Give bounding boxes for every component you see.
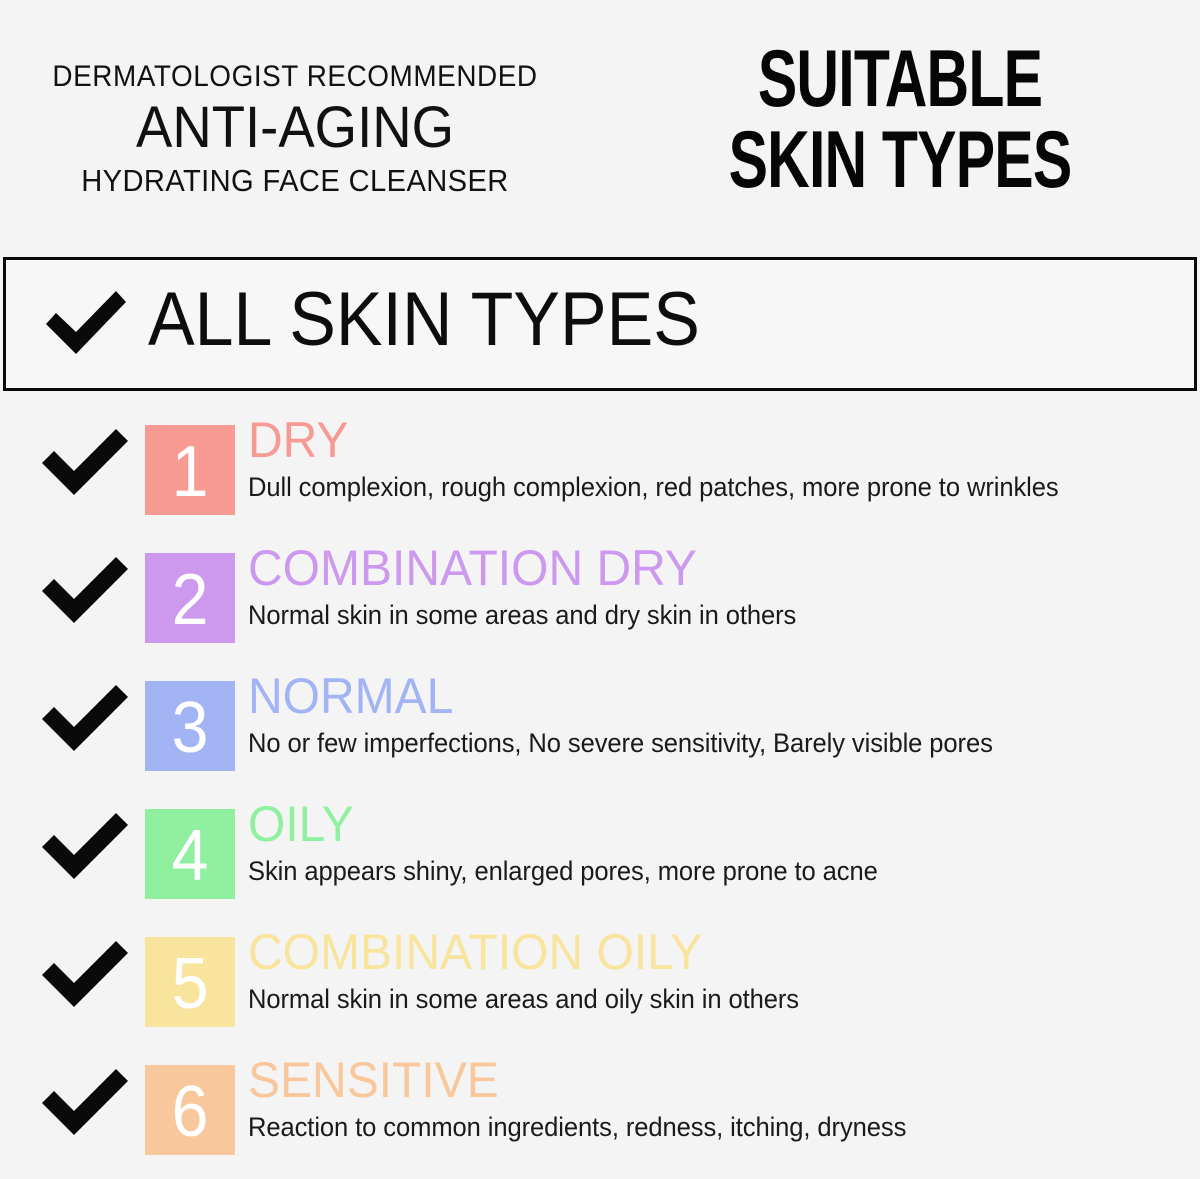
- brand-main-title: ANTI-AGING: [18, 98, 573, 159]
- check-icon: [40, 683, 130, 760]
- skin-type-number: 5: [172, 948, 209, 1020]
- skin-type-description: Reaction to common ingredients, redness,…: [248, 1114, 1163, 1141]
- skin-type-name: NORMAL: [248, 671, 1158, 721]
- skin-type-number: 3: [172, 692, 209, 764]
- header-band: DERMATOLOGIST RECOMMENDED ANTI-AGING HYD…: [0, 0, 1200, 257]
- skin-type-text: COMBINATION OILY Normal skin in some are…: [248, 927, 1196, 1013]
- page-title-line-2: SKIN TYPES: [654, 120, 1146, 199]
- list-item: 2 COMBINATION DRY Normal skin in some ar…: [0, 519, 1200, 647]
- skin-type-number: 2: [172, 564, 209, 636]
- skin-type-description: Normal skin in some areas and dry skin i…: [248, 602, 1163, 629]
- skin-type-text: COMBINATION DRY Normal skin in some area…: [248, 543, 1196, 629]
- skin-type-description: Skin appears shiny, enlarged pores, more…: [248, 858, 1163, 885]
- skin-type-text: NORMAL No or few imperfections, No sever…: [248, 671, 1196, 757]
- skin-type-description: Dull complexion, rough complexion, red p…: [248, 474, 1163, 501]
- skin-type-name: OILY: [248, 799, 1158, 849]
- brand-subtitle: HYDRATING FACE CLEANSER: [18, 165, 573, 196]
- skin-type-swatch: 5: [145, 937, 235, 1027]
- skin-types-list: 1 DRY Dull complexion, rough complexion,…: [0, 391, 1200, 1159]
- skin-type-description: Normal skin in some areas and oily skin …: [248, 986, 1163, 1013]
- check-icon: [42, 286, 130, 363]
- all-skin-types-label: ALL SKIN TYPES: [148, 282, 700, 358]
- brand-kicker: DERMATOLOGIST RECOMMENDED: [21, 62, 570, 92]
- all-skin-types-banner: ALL SKIN TYPES: [3, 257, 1197, 391]
- skin-type-text: OILY Skin appears shiny, enlarged pores,…: [248, 799, 1196, 885]
- list-item: 4 OILY Skin appears shiny, enlarged pore…: [0, 775, 1200, 903]
- list-item: 1 DRY Dull complexion, rough complexion,…: [0, 391, 1200, 519]
- skin-type-swatch: 1: [145, 425, 235, 515]
- skin-type-name: SENSITIVE: [248, 1055, 1158, 1105]
- check-icon: [40, 427, 130, 504]
- skin-type-number: 4: [172, 820, 209, 892]
- skin-type-name: COMBINATION OILY: [248, 927, 1158, 977]
- skin-type-swatch: 2: [145, 553, 235, 643]
- brand-block: DERMATOLOGIST RECOMMENDED ANTI-AGING HYD…: [0, 62, 590, 196]
- skin-type-description: No or few imperfections, No severe sensi…: [248, 730, 1163, 757]
- list-item: 6 SENSITIVE Reaction to common ingredien…: [0, 1031, 1200, 1159]
- check-icon: [40, 1067, 130, 1144]
- skin-type-swatch: 3: [145, 681, 235, 771]
- skin-type-number: 1: [172, 436, 209, 508]
- skin-type-name: COMBINATION DRY: [248, 543, 1158, 593]
- list-item: 3 NORMAL No or few imperfections, No sev…: [0, 647, 1200, 775]
- skin-type-swatch: 4: [145, 809, 235, 899]
- check-icon: [40, 555, 130, 632]
- skin-type-name: DRY: [248, 415, 1158, 465]
- skin-type-text: SENSITIVE Reaction to common ingredients…: [248, 1055, 1196, 1141]
- check-icon: [40, 939, 130, 1016]
- page-title-line-1: SUITABLE: [654, 40, 1146, 119]
- skin-type-swatch: 6: [145, 1065, 235, 1155]
- page-title: SUITABLE SKIN TYPES: [600, 44, 1200, 195]
- skin-type-text: DRY Dull complexion, rough complexion, r…: [248, 415, 1196, 501]
- list-item: 5 COMBINATION OILY Normal skin in some a…: [0, 903, 1200, 1031]
- check-icon: [40, 811, 130, 888]
- skin-type-number: 6: [172, 1076, 209, 1148]
